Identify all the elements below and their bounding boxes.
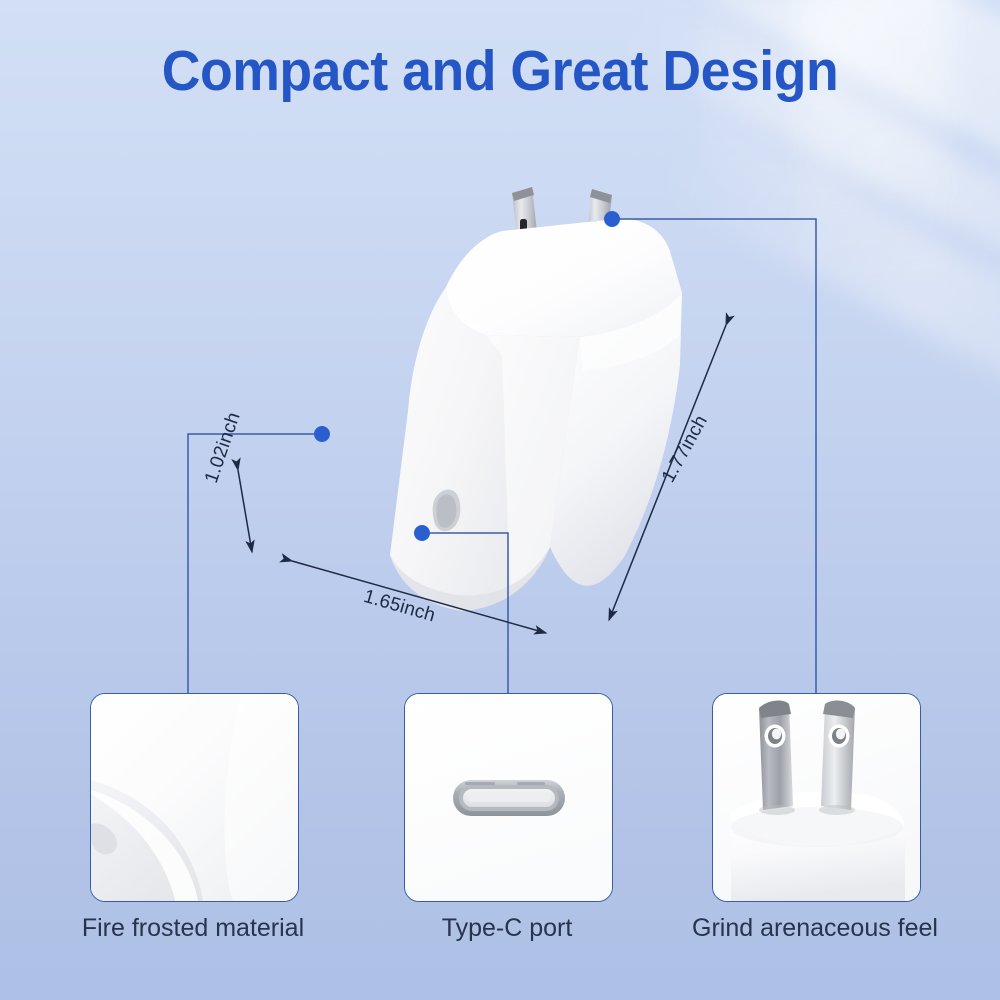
panel-caption-grind-arenaceous-feel: Grind arenaceous feel xyxy=(665,914,965,943)
prong-left xyxy=(759,701,793,810)
panel-caption-type-c-port: Type-C port xyxy=(357,914,657,943)
infographic-canvas: Compact and Great Design xyxy=(0,0,1000,1000)
detail-panel-grind-arenaceous-feel[interactable] xyxy=(712,693,921,902)
detail-panel-fire-frosted-material[interactable] xyxy=(90,693,299,902)
page-title: Compact and Great Design xyxy=(30,38,970,104)
detail-panel-type-c-port[interactable] xyxy=(404,693,613,902)
panel-caption-fire-frosted-material: Fire frosted material xyxy=(43,914,343,943)
light-glow-icon xyxy=(700,0,1000,240)
usb-c-port-icon xyxy=(405,694,612,901)
prong-right xyxy=(821,701,855,810)
frosted-surface-icon xyxy=(91,694,298,901)
wall-prongs-icon xyxy=(713,694,920,901)
product-illustration xyxy=(250,175,710,655)
dimension-label-height: 1.02inch xyxy=(201,410,246,487)
